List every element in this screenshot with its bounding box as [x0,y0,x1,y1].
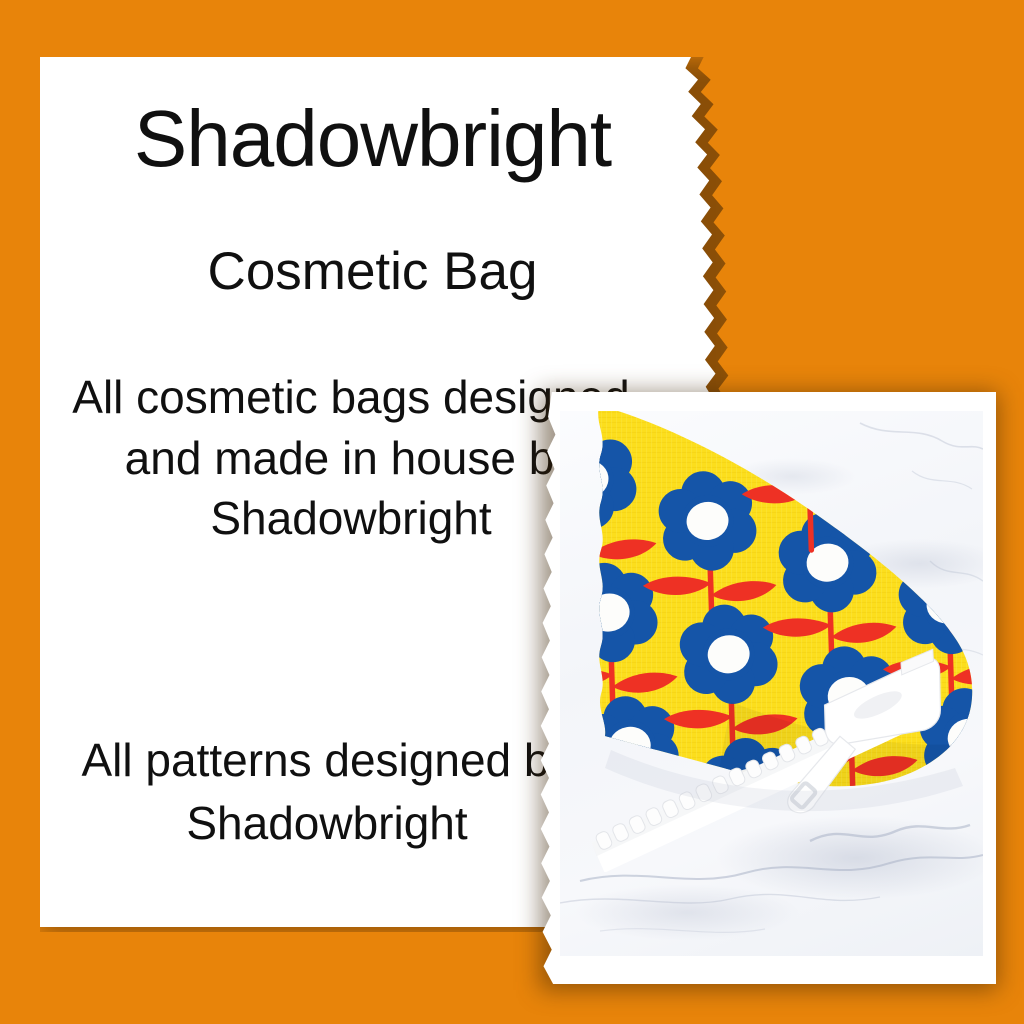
body-paragraph-two: All patterns designed by Shadowbright [62,729,592,854]
cosmetic-bag-graphic [560,411,983,872]
page-title: Shadowbright [40,97,705,181]
product-subtitle: Cosmetic Bag [40,243,705,301]
poster-canvas: Shadowbright Cosmetic Bag All cosmetic b… [0,0,1024,1024]
product-photo [560,411,983,956]
